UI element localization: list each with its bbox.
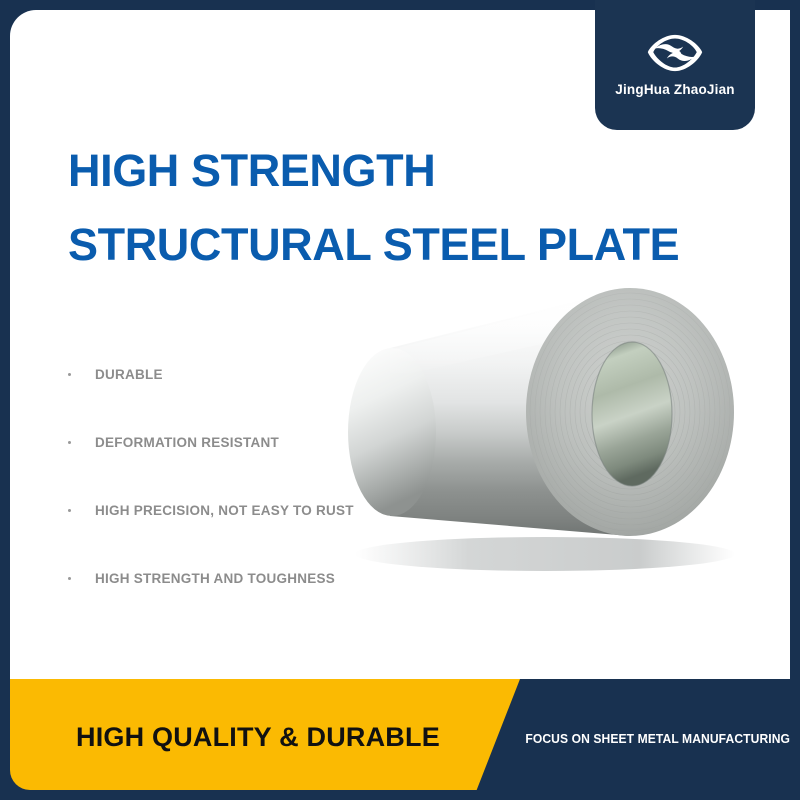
bullet-dot-icon bbox=[68, 577, 71, 580]
bullet-dot-icon bbox=[68, 509, 71, 512]
feature-list: DURABLE DEFORMATION RESISTANT HIGH PRECI… bbox=[68, 340, 398, 612]
bullet-dot-icon bbox=[68, 373, 71, 376]
list-item: DURABLE bbox=[68, 340, 398, 408]
feature-label: HIGH STRENGTH AND TOUGHNESS bbox=[95, 571, 335, 586]
list-item: HIGH STRENGTH AND TOUGHNESS bbox=[68, 544, 398, 612]
feature-label: DURABLE bbox=[95, 367, 163, 382]
headline-line-1: HIGH STRENGTH bbox=[68, 134, 728, 208]
product-poster: JingHua ZhaoJian HIGH STRENGTH STRUCTURA… bbox=[0, 0, 800, 800]
list-item: HIGH PRECISION, NOT EASY TO RUST bbox=[68, 476, 398, 544]
page-title: HIGH STRENGTH STRUCTURAL STEEL PLATE bbox=[68, 134, 728, 282]
status-badge: HIGH QUALITY & DURABLE bbox=[76, 722, 440, 753]
footer-tagline: FOCUS ON SHEET METAL MANUFACTURING bbox=[525, 731, 774, 746]
list-item: DEFORMATION RESISTANT bbox=[68, 408, 398, 476]
brand-name: JingHua ZhaoJian bbox=[615, 82, 734, 97]
headline-line-2: STRUCTURAL STEEL PLATE bbox=[68, 208, 728, 282]
brand-panel: JingHua ZhaoJian bbox=[595, 0, 755, 130]
diamond-wave-logo-icon bbox=[646, 33, 704, 73]
feature-label: HIGH PRECISION, NOT EASY TO RUST bbox=[95, 503, 354, 518]
bullet-dot-icon bbox=[68, 441, 71, 444]
feature-label: DEFORMATION RESISTANT bbox=[95, 435, 279, 450]
